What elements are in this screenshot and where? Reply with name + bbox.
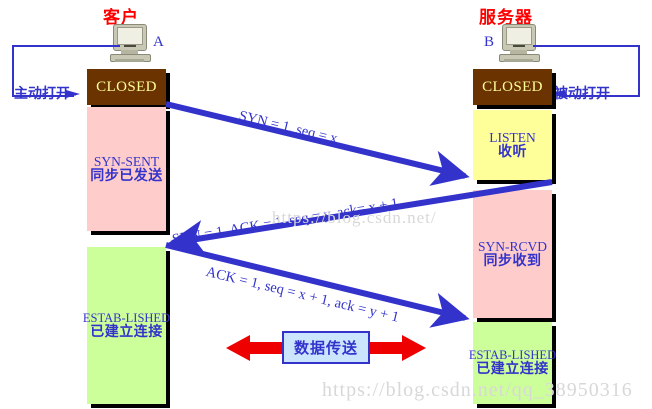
data-transfer-box: 数据传送 bbox=[282, 331, 370, 364]
watermark-top: https://blog.csdn.net/ bbox=[272, 208, 437, 228]
watermark-bottom: https://blog.csdn.net/qq_38950316 bbox=[322, 379, 633, 402]
tcp-handshake-diagram: 客户 A 主动打开 CLOSED SYN-SENT 同步已发送 ESTAB-LI… bbox=[0, 0, 652, 409]
